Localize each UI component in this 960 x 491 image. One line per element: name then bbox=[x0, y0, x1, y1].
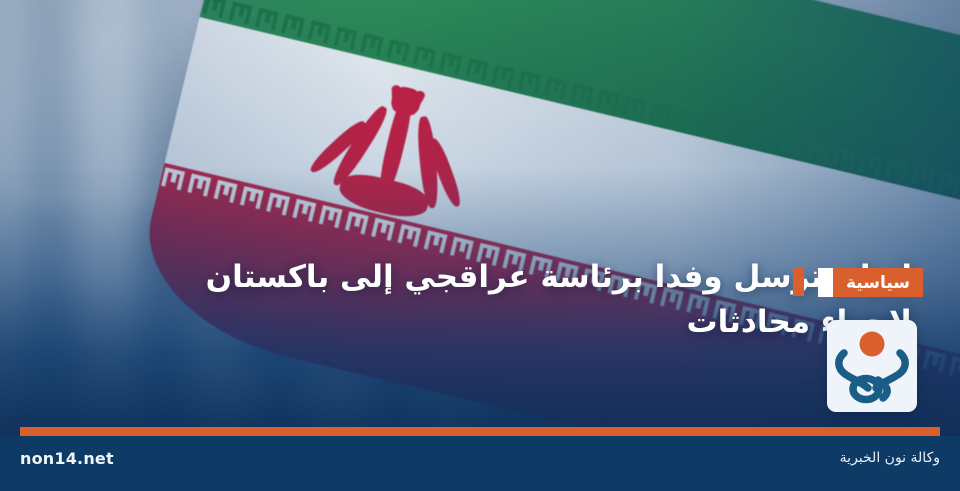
category-badge[interactable]: سياسية bbox=[833, 268, 923, 297]
headline-line-1: إيران ترسل وفدا برئاسة عراقجي إلى باكستا… bbox=[40, 255, 912, 300]
orange-accent-bar bbox=[793, 267, 804, 296]
card-overlay: إيران ترسل وفدا برئاسة عراقجي إلى باكستا… bbox=[0, 0, 960, 491]
logo-orange-dot bbox=[860, 332, 885, 357]
news-share-card: إيران ترسل وفدا برئاسة عراقجي إلى باكستا… bbox=[0, 0, 960, 491]
category-badge-row[interactable]: سياسية bbox=[818, 268, 923, 297]
footer-agency-name: وكالة نون الخبرية bbox=[840, 450, 940, 466]
headline-line-2: لإجراء محادثات bbox=[40, 300, 912, 345]
footer-site-url[interactable]: non14.net bbox=[20, 449, 114, 468]
badge-white-cap bbox=[818, 268, 833, 297]
headline: إيران ترسل وفدا برئاسة عراقجي إلى باكستا… bbox=[40, 255, 912, 344]
footer: non14.net وكالة نون الخبرية bbox=[0, 436, 960, 491]
footer-orange-rule bbox=[20, 427, 940, 436]
noon-agency-logo[interactable] bbox=[827, 320, 917, 412]
